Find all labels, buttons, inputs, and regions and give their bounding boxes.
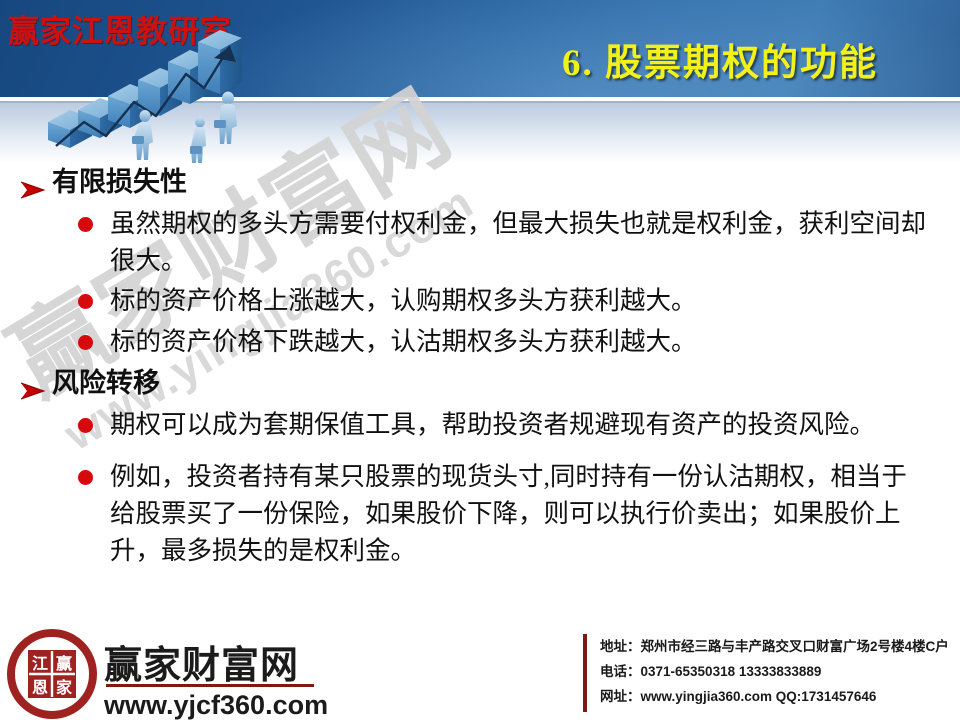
bullet-item: 虽然期权的多头方需要付权利金，但最大损失也就是权利金，获利空间却很大。 — [0, 206, 960, 279]
section-heading-2-text: 风险转移 — [52, 368, 160, 398]
dot-bullet-icon — [78, 217, 93, 232]
footer-divider — [106, 684, 314, 687]
contact-address-line: 地址：郑州市经三路与丰产路交叉口财富广场2号楼4楼C户 — [600, 634, 956, 659]
section-heading-2: 风险转移 — [0, 367, 960, 400]
contact-site-label: 网址： — [600, 689, 641, 704]
seal-char-3: 恩 — [32, 679, 48, 697]
section-heading-1: 有限损失性 — [0, 166, 960, 199]
bullet-item: 期权可以成为套期保值工具，帮助投资者规避现有资产的投资风险。 — [0, 407, 960, 444]
contact-phone-label: 电话： — [600, 664, 641, 679]
slide-body: 有限损失性 虽然期权的多头方需要付权利金，但最大损失也就是权利金，获利空间却很大… — [0, 160, 960, 570]
bullet-item: 标的资产价格下跌越大，认沽期权多头方获利越大。 — [0, 324, 960, 361]
footer-contact-block: 地址：郑州市经三路与丰产路交叉口财富广场2号楼4楼C户 电话：0371-6535… — [600, 634, 956, 709]
dot-bullet-icon — [78, 294, 93, 309]
footer-website-url[interactable]: www.yjcf360.com — [104, 690, 328, 720]
section-heading-1-text: 有限损失性 — [52, 167, 187, 197]
contact-site-line: 网址：www.yingjia360.com QQ:1731457646 — [600, 684, 956, 709]
bullet-item: 例如，投资者持有某只股票的现货头寸,同时持有一份认沽期权，相当于给股票买了一份保… — [0, 459, 960, 569]
seal-char-4: 家 — [56, 678, 73, 697]
dot-bullet-icon — [78, 470, 93, 485]
bullet-text: 标的资产价格上涨越大，认购期权多头方获利越大。 — [110, 286, 697, 315]
contact-phone-line: 电话：0371-65350318 13333833889 — [600, 659, 956, 684]
contact-site-value[interactable]: www.yingjia360.com QQ:1731457646 — [641, 689, 877, 704]
bullet-text: 虽然期权的多头方需要付权利金，但最大损失也就是权利金，获利空间却很大。 — [110, 209, 926, 275]
contact-address-label: 地址： — [600, 639, 641, 654]
arrow-bullet-icon — [20, 174, 46, 192]
slide-canvas: 赢家江恩教研室 6. 股票期权的功能 — [0, 0, 960, 720]
dot-bullet-icon — [78, 418, 93, 433]
footer-brand-name: 赢家财富网 — [104, 634, 299, 689]
bullet-item: 标的资产价格上涨越大，认购期权多头方获利越大。 — [0, 283, 960, 320]
dot-bullet-icon — [78, 335, 93, 350]
contact-address-value: 郑州市经三路与丰产路交叉口财富广场2号楼4楼C户 — [641, 639, 949, 654]
seal-char-1: 江 — [32, 655, 48, 673]
arrow-bullet-icon — [20, 375, 46, 393]
contact-phone-value: 0371-65350318 13333833889 — [641, 664, 822, 679]
bar-chart-illustration — [40, 18, 310, 163]
seal-char-2: 赢 — [56, 654, 72, 673]
company-seal-logo: 江 赢 恩 家 — [6, 628, 98, 720]
bullet-text: 例如，投资者持有某只股票的现货头寸,同时持有一份认沽期权，相当于给股票买了一份保… — [110, 462, 907, 564]
page-title: 6. 股票期权的功能 — [500, 32, 940, 86]
bullet-text: 期权可以成为套期保值工具，帮助投资者规避现有资产的投资风险。 — [110, 410, 875, 439]
bullet-text: 标的资产价格下跌越大，认沽期权多头方获利越大。 — [110, 327, 697, 356]
footer: 江 赢 恩 家 赢家财富网 www.yjcf360.com 地址：郑州市经三路与… — [0, 626, 960, 720]
footer-vertical-separator — [583, 634, 587, 712]
